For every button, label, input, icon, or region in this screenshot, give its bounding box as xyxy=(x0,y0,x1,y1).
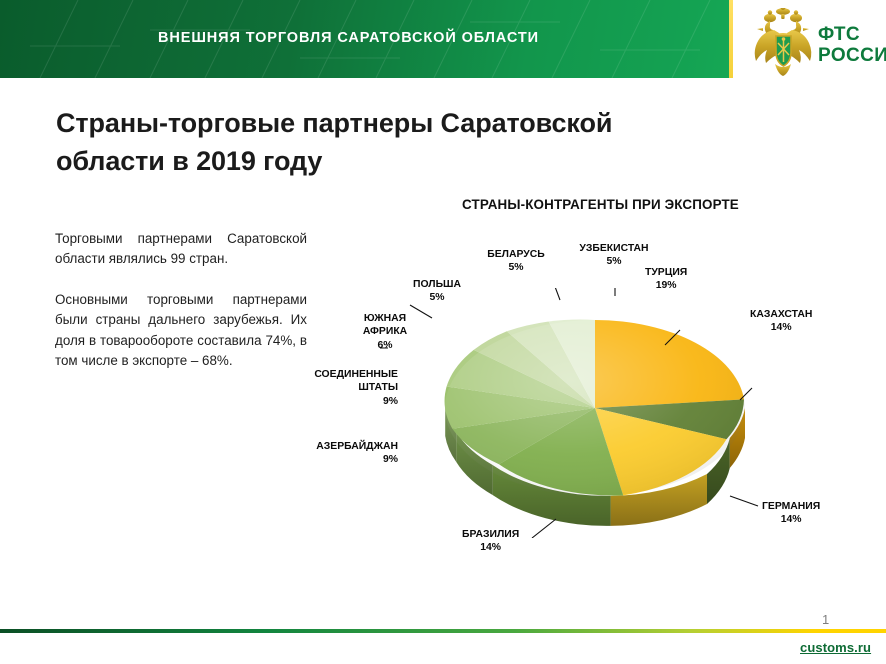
footer-rule xyxy=(0,629,886,633)
pie-label-azerbaijan: АЗЕРБАЙДЖАН 9% xyxy=(288,440,398,467)
pie-top-face xyxy=(445,320,745,496)
site-url-link[interactable]: customs.ru xyxy=(800,640,871,655)
banner-title: ВНЕШНЯЯ ТОРГОВЛЯ САРАТОВСКОЙ ОБЛАСТИ xyxy=(158,30,539,46)
body-paragraph-2: Основными торговыми партнерами были стра… xyxy=(55,290,307,372)
pie-label-uzbekistan: УЗБЕКИСТАН 5% xyxy=(566,242,662,269)
pie-label-germany: ГЕРМАНИЯ 14% xyxy=(762,500,820,527)
chart-title: СТРАНЫ-КОНТРАГЕНТЫ ПРИ ЭКСПОРТЕ xyxy=(462,197,739,212)
fts-logo-text: ФТС РОССИИ xyxy=(818,24,886,67)
pie-label-kazakhstan: КАЗАХСТАН 14% xyxy=(750,308,812,335)
pie-chart-svg xyxy=(380,288,810,538)
russian-coat-of-arms-icon xyxy=(752,8,814,78)
pie-label-poland: ПОЛЬША 5% xyxy=(406,278,468,305)
header-accent-edge xyxy=(729,0,733,78)
page-number: 1 xyxy=(822,612,829,627)
body-paragraph-1: Торговыми партнерами Саратовской области… xyxy=(55,229,307,270)
pie-label-belarus: БЕЛАРУСЬ 5% xyxy=(480,248,552,275)
pie-label-brazil: БРАЗИЛИЯ 14% xyxy=(462,528,519,555)
body-copy: Торговыми партнерами Саратовской области… xyxy=(55,229,307,371)
pie-label-south-africa: ЮЖНАЯ АФРИКА 6% xyxy=(354,312,416,352)
page-title: Страны-торговые партнеры Саратовской обл… xyxy=(56,104,706,181)
pie-label-usa: СОЕДИНЕННЫЕ ШТАТЫ 9% xyxy=(270,368,398,408)
pie-label-turkey: ТУРЦИЯ 19% xyxy=(645,266,687,293)
logo-line-2: РОССИИ xyxy=(818,45,886,66)
logo-line-1: ФТС xyxy=(818,24,886,45)
fts-logo: ФТС РОССИИ xyxy=(752,8,882,80)
pie-chart: ТУРЦИЯ 19% КАЗАХСТАН 14% ГЕРМАНИЯ 14% БР… xyxy=(380,288,810,538)
header-banner: ВНЕШНЯЯ ТОРГОВЛЯ САРАТОВСКОЙ ОБЛАСТИ xyxy=(0,0,733,78)
